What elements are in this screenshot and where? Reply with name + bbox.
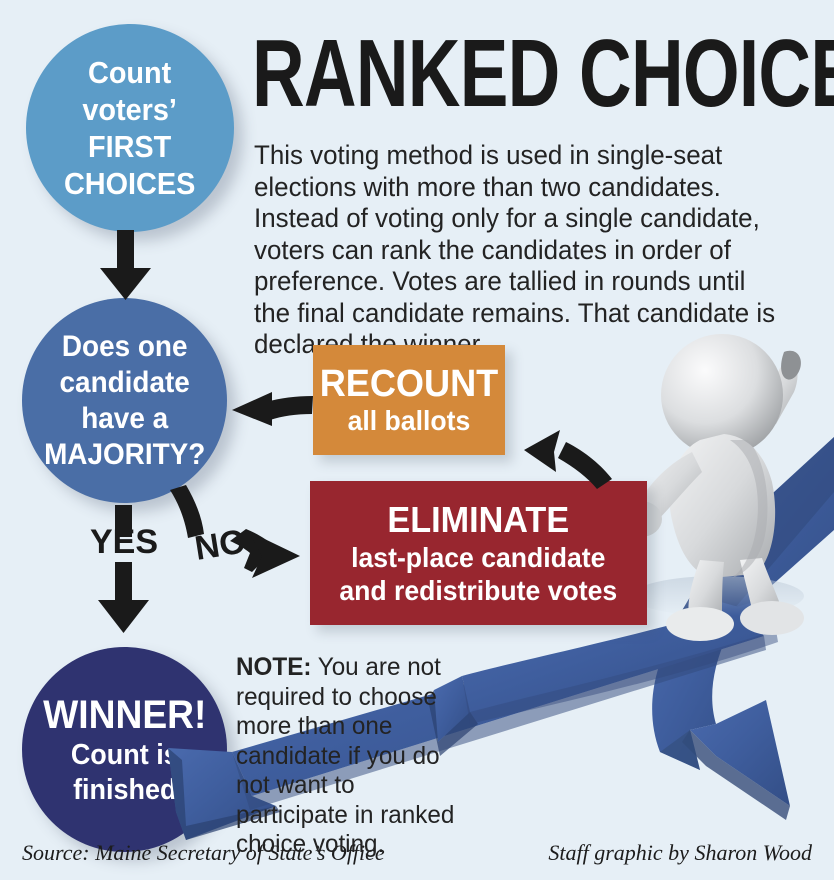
- edge-label-yes: YES: [90, 523, 158, 561]
- note-body: You are not required to choose more than…: [236, 653, 454, 858]
- note-label: NOTE:: [236, 653, 311, 681]
- note-block: NOTE: You are not required to choose mor…: [236, 653, 469, 860]
- arrow-eliminate-to-recount: [524, 430, 612, 489]
- infographic-canvas: Count voters’ FIRST CHOICES Does one can…: [0, 0, 834, 880]
- arrow-first-to-majority: [100, 230, 151, 300]
- arrow-recount-to-majority: [232, 392, 313, 426]
- edge-label-no: NO: [192, 522, 248, 568]
